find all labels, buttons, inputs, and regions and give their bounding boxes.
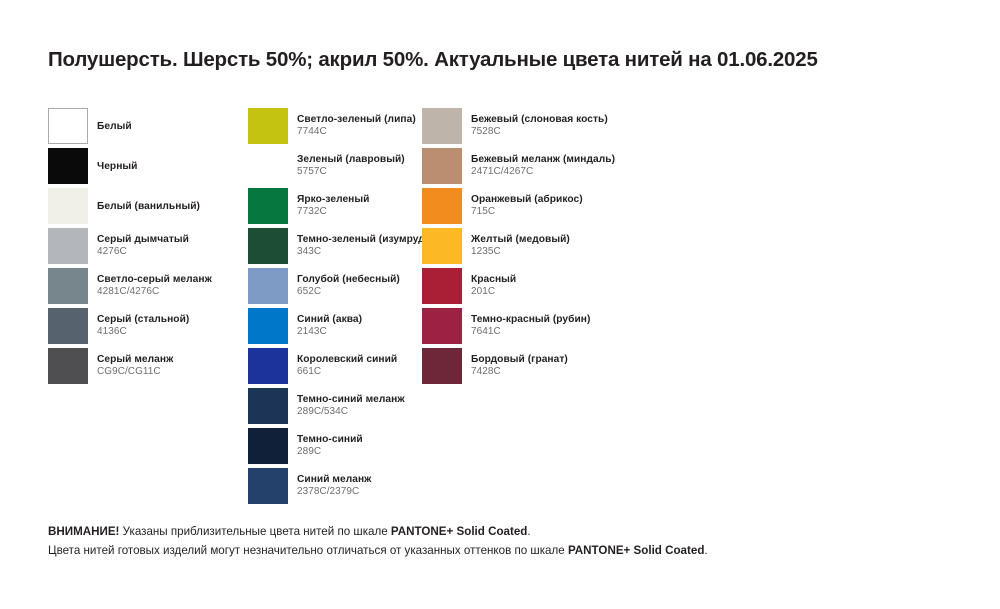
swatch-pantone-code: 7528C [471,126,608,139]
color-swatch [248,308,288,344]
swatch-pantone-code: 4136C [97,326,189,339]
swatch-label-group: Синий (аква)2143C [297,308,362,344]
swatch-name: Синий меланж [297,473,371,486]
swatch-pantone-code: CG9C/CG11C [97,366,173,379]
footer-line-2-end: . [704,544,707,557]
swatch-name: Бежевый (слоновая кость) [471,113,608,126]
swatch-row: Бордовый (гранат)7428C [422,348,722,388]
color-swatch [248,108,288,144]
footer-brand-1: PANTONE+ Solid Coated [391,525,527,538]
footer-line-2: Цвета нитей готовых изделий могут незнач… [48,541,968,560]
swatch-row: Синий (аква)2143C [248,308,422,348]
swatch-label-group: Оранжевый (абрикос)715C [471,188,583,224]
color-swatch [48,228,88,264]
swatch-label-group: Бежевый меланж (миндаль)2471C/4267C [471,148,615,184]
swatch-pantone-code: 2378C/2379C [297,486,371,499]
color-swatch [248,268,288,304]
swatch-pantone-code: 4281C/4276C [97,286,212,299]
color-swatch [422,108,462,144]
color-swatch [48,268,88,304]
swatch-name: Оранжевый (абрикос) [471,193,583,206]
swatch-row: Бежевый (слоновая кость)7528C [422,108,722,148]
swatch-pantone-code: 7641C [471,326,590,339]
color-swatch [248,388,288,424]
swatch-name: Серый дымчатый [97,233,189,246]
swatch-label-group: Черный [97,148,137,184]
swatch-pantone-code: 652C [297,286,400,299]
swatch-label-group: Голубой (небесный)652C [297,268,400,304]
swatch-label-group: Белый [97,108,132,144]
swatch-pantone-code: 2471C/4267C [471,166,615,179]
swatch-row: Ярко-зеленый7732C [248,188,422,228]
color-swatch [48,108,88,144]
swatch-pantone-code: 4276C [97,246,189,259]
swatch-pantone-code: 2143C [297,326,362,339]
swatch-row: Красный201C [422,268,722,308]
swatch-column-1: БелыйЧерныйБелый (ванильный)Серый дымчат… [48,108,248,388]
swatch-row: Светло-серый меланж4281C/4276C [48,268,248,308]
swatch-row: Белый [48,108,248,148]
swatch-pantone-code: 201C [471,286,516,299]
color-swatch [422,228,462,264]
swatch-label-group: Темно-красный (рубин)7641C [471,308,590,344]
swatch-pantone-code: 5757C [297,166,405,179]
swatch-label-group: Светло-зеленый (липа)7744C [297,108,416,144]
swatch-row: Бежевый меланж (миндаль)2471C/4267C [422,148,722,188]
swatch-label-group: Темно-синий меланж289C/534C [297,388,405,424]
swatch-column-2: Светло-зеленый (липа)7744CЗеленый (лавро… [248,108,422,508]
swatch-label-group: Серый дымчатый4276C [97,228,189,264]
swatch-column-3: Бежевый (слоновая кость)7528CБежевый мел… [422,108,722,388]
swatch-pantone-code: 7428C [471,366,568,379]
swatch-label-group: Светло-серый меланж4281C/4276C [97,268,212,304]
color-swatch [248,148,288,184]
swatch-pantone-code: 1235C [471,246,570,259]
swatch-row: Оранжевый (абрикос)715C [422,188,722,228]
color-swatch [422,268,462,304]
swatch-name: Белый (ванильный) [97,200,200,213]
swatch-name: Голубой (небесный) [297,273,400,286]
color-swatch [422,148,462,184]
color-swatch [248,348,288,384]
swatch-pantone-code: 715C [471,206,583,219]
color-swatch [422,308,462,344]
swatch-label-group: Ярко-зеленый7732C [297,188,369,224]
swatch-row: Желтый (медовый)1235C [422,228,722,268]
swatch-name: Темно-синий меланж [297,393,405,406]
color-swatch [48,348,88,384]
swatch-row: Темно-зеленый (изумруд)343C [248,228,422,268]
swatch-label-group: Серый меланжCG9C/CG11C [97,348,173,384]
color-swatch [248,428,288,464]
swatch-row: Темно-синий289C [248,428,422,468]
swatch-label-group: Бордовый (гранат)7428C [471,348,568,384]
swatch-row: Серый меланжCG9C/CG11C [48,348,248,388]
footer-line-1-end: . [527,525,530,538]
swatch-name: Бежевый меланж (миндаль) [471,153,615,166]
swatch-row: Королевский синий661C [248,348,422,388]
swatch-row: Серый (стальной)4136C [48,308,248,348]
color-swatch [248,228,288,264]
swatch-name: Темно-красный (рубин) [471,313,590,326]
swatch-pantone-code: 289C/534C [297,406,405,419]
swatch-name: Синий (аква) [297,313,362,326]
footer-attention-label: ВНИМАНИЕ! [48,525,119,538]
swatch-row: Светло-зеленый (липа)7744C [248,108,422,148]
swatch-pantone-code: 7744C [297,126,416,139]
swatch-label-group: Белый (ванильный) [97,188,200,224]
swatch-name: Темно-зеленый (изумруд) [297,233,428,246]
swatch-row: Зеленый (лавровый)5757C [248,148,422,188]
footer-line-2-text: Цвета нитей готовых изделий могут незнач… [48,544,568,557]
color-swatch [248,188,288,224]
footer-line-1-text: Указаны приблизительные цвета нитей по ш… [119,525,390,538]
color-chart-page: Полушерсть. Шерсть 50%; акрил 50%. Актуа… [0,0,1000,609]
swatch-row: Черный [48,148,248,188]
swatch-row: Белый (ванильный) [48,188,248,228]
swatch-name: Белый [97,120,132,133]
swatch-row: Темно-красный (рубин)7641C [422,308,722,348]
swatch-label-group: Красный201C [471,268,516,304]
swatch-label-group: Зеленый (лавровый)5757C [297,148,405,184]
swatch-name: Королевский синий [297,353,397,366]
swatch-name: Зеленый (лавровый) [297,153,405,166]
swatch-row: Темно-синий меланж289C/534C [248,388,422,428]
swatch-row: Серый дымчатый4276C [48,228,248,268]
swatch-name: Светло-серый меланж [97,273,212,286]
swatch-name: Красный [471,273,516,286]
color-swatch [48,148,88,184]
color-swatch [48,308,88,344]
footer-disclaimer: ВНИМАНИЕ! Указаны приблизительные цвета … [48,522,968,560]
footer-line-1: ВНИМАНИЕ! Указаны приблизительные цвета … [48,522,968,541]
swatch-pantone-code: 343C [297,246,428,259]
swatch-row: Голубой (небесный)652C [248,268,422,308]
swatch-name: Желтый (медовый) [471,233,570,246]
color-swatch [248,468,288,504]
swatch-pantone-code: 289C [297,446,363,459]
swatch-label-group: Темно-зеленый (изумруд)343C [297,228,428,264]
color-swatch [422,188,462,224]
swatch-pantone-code: 7732C [297,206,369,219]
swatch-pantone-code: 661C [297,366,397,379]
footer-brand-2: PANTONE+ Solid Coated [568,544,704,557]
swatch-name: Ярко-зеленый [297,193,369,206]
swatch-name: Серый (стальной) [97,313,189,326]
swatch-label-group: Желтый (медовый)1235C [471,228,570,264]
swatch-label-group: Серый (стальной)4136C [97,308,189,344]
swatch-name: Черный [97,160,137,173]
swatch-name: Светло-зеленый (липа) [297,113,416,126]
swatch-label-group: Бежевый (слоновая кость)7528C [471,108,608,144]
swatch-label-group: Королевский синий661C [297,348,397,384]
swatch-row: Синий меланж2378C/2379C [248,468,422,508]
swatch-name: Серый меланж [97,353,173,366]
swatch-name: Бордовый (гранат) [471,353,568,366]
color-swatch [48,188,88,224]
swatch-label-group: Синий меланж2378C/2379C [297,468,371,504]
swatch-name: Темно-синий [297,433,363,446]
color-swatch [422,348,462,384]
page-title: Полушерсть. Шерсть 50%; акрил 50%. Актуа… [48,48,968,72]
swatch-label-group: Темно-синий289C [297,428,363,464]
